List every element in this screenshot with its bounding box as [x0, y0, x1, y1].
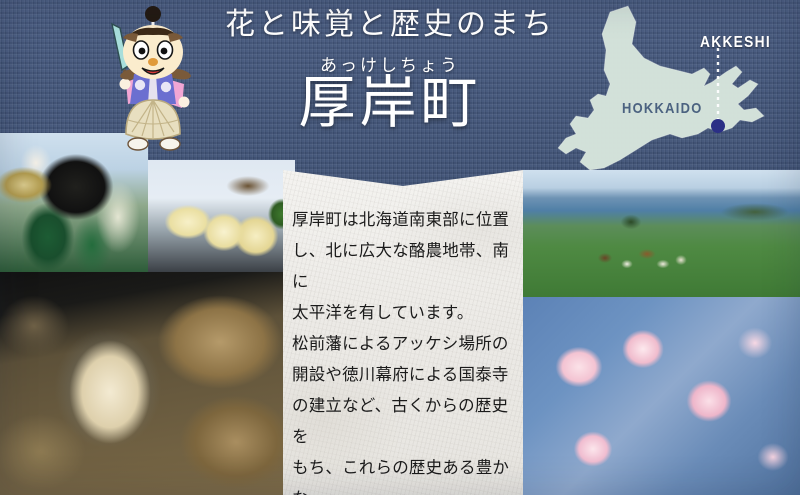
description-line: 松前藩によるアッケシ場所の	[292, 329, 520, 360]
map-label-akkeshi: AKKESHI	[700, 34, 771, 52]
poster-root: AKKESHI HOKKAIDO	[0, 0, 800, 495]
description-line: し、北に広大な酪農地帯、南に	[292, 236, 520, 298]
mascot-pupil-left	[139, 48, 146, 55]
mascot-nose	[148, 58, 158, 66]
hokkaido-landmass	[558, 6, 764, 170]
poster-header: 花と味覚と歴史のまち あっけしちょう 厚岸町	[200, 8, 580, 134]
header-town-name: 厚岸町	[200, 74, 580, 134]
description-line: もち、これらの歴史ある豊かな	[292, 453, 520, 495]
map-label-hokkaido: HOKKAIDO	[622, 100, 703, 117]
mascot-scallop-shell	[126, 100, 180, 139]
map-marker-akkeshi	[711, 119, 725, 133]
header-tagline: 花と味覚と歴史のまち	[200, 8, 580, 41]
photo-cheese	[148, 160, 295, 272]
mascot-hand-left	[120, 79, 131, 90]
mascot-crest-right	[161, 82, 171, 92]
description-line: の建立など、古くからの歴史を	[292, 391, 520, 453]
mascot-character	[98, 4, 208, 159]
description-text: 厚岸町は北海道南東部に位置 し、北に広大な酪農地帯、南に 太平洋を有しています。…	[292, 205, 520, 495]
photo-sakura	[523, 297, 800, 495]
photo-oyster	[0, 272, 295, 495]
description-line: 開設や徳川幕府による国泰寺	[292, 360, 520, 391]
mascot-pupil-right	[161, 48, 168, 55]
description-line: 厚岸町は北海道南東部に位置	[292, 205, 520, 236]
mascot-hand-right	[179, 97, 190, 108]
mascot-topknot-ball	[145, 6, 161, 22]
mascot-foot-right	[160, 138, 180, 150]
description-line: 太平洋を有しています。	[292, 298, 520, 329]
mascot-foot-left	[128, 138, 148, 150]
mascot-crest-left	[135, 80, 145, 90]
photo-pasture	[523, 170, 800, 297]
